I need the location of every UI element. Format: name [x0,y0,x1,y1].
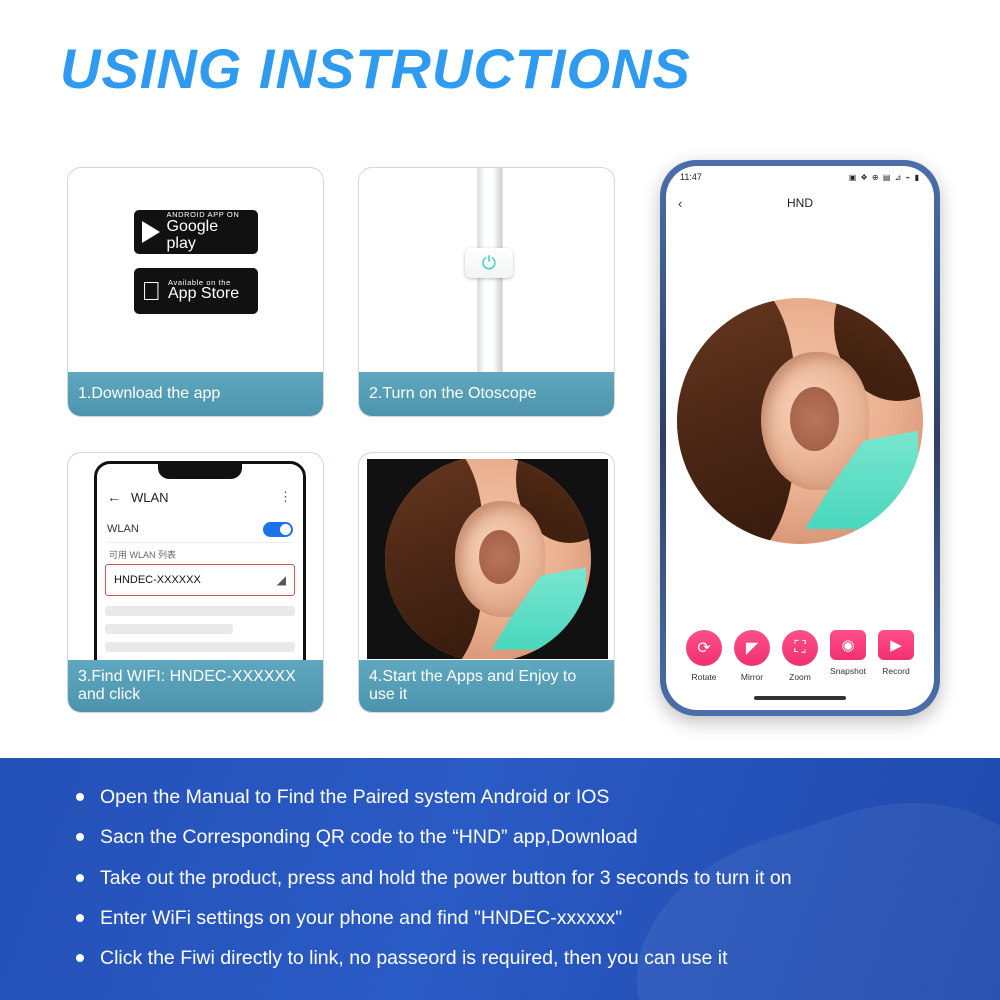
app-store-badge-label: App Store [168,286,239,303]
app-store-badge[interactable]:  Available on the App Store [134,268,258,314]
status-bar-icons: ▣ ❖ ⊕ ▤ ⊿ ⌁ ▮ [849,173,920,182]
control-mirror[interactable]: ◤ Mirror [728,630,776,682]
step-card-find-wifi: ← WLAN ⋮ WLAN 可用 WLAN 列表 HNDEC-XXXXXX ◢ … [67,452,324,713]
control-label-rotate: Rotate [691,672,716,682]
camera-icon: ◉ [830,630,866,660]
step-caption-2: 2.Turn on the Otoscope [359,372,614,416]
wlan-toggle-label: WLAN [107,523,139,535]
wlan-section-label: 可用 WLAN 列表 [109,548,176,561]
status-time: 11:47 [680,172,702,182]
wifi-icon: ◢ [277,573,286,587]
ear-canal-shape [479,530,520,584]
instructions-list: Open the Manual to Find the Paired syste… [0,758,1000,972]
phone-notch [158,464,242,479]
google-play-badge-label: Google play [167,219,250,253]
status-bar: 11:47 ▣ ❖ ⊕ ▤ ⊿ ⌁ ▮ [666,166,934,188]
list-item: Enter WiFi settings on your phone and fi… [72,905,1000,931]
live-ear-view [677,298,923,544]
step-caption-1: 1.Download the app [68,372,323,416]
phone-mockup-small: ← WLAN ⋮ WLAN 可用 WLAN 列表 HNDEC-XXXXXX ◢ [94,461,306,668]
google-play-icon [142,221,160,243]
instructions-band: Open the Manual to Find the Paired syste… [0,758,1000,1000]
step-card-power-on: ⏻ 2.Turn on the Otoscope [358,167,615,417]
app-title: HND [787,196,813,210]
overflow-menu-icon[interactable]: ⋮ [279,489,293,505]
power-icon: ⏻ [482,254,496,272]
list-item: Take out the product, press and hold the… [72,865,1000,891]
otoscope-device-photo: ⏻ [359,168,614,372]
step-caption-4: 4.Start the Apps and Enjoy to use it [359,660,614,712]
wlan-header: ← WLAN ⋮ [97,484,303,510]
store-badges: ANDROID APP ON Google play  Available o… [68,168,323,372]
rotate-icon: ⟳ [686,630,722,666]
google-play-badge[interactable]: ANDROID APP ON Google play [134,210,258,254]
app-title-bar: ‹ HND [666,190,934,216]
control-label-mirror: Mirror [741,672,763,682]
ear-photo-frame [367,459,608,659]
control-rotate[interactable]: ⟳ Rotate [680,630,728,682]
mirror-icon: ◤ [734,630,770,666]
phone-screen: 11:47 ▣ ❖ ⊕ ▤ ⊿ ⌁ ▮ ‹ HND ⟳ Rotate ◤ Mir… [666,166,934,710]
list-item: Open the Manual to Find the Paired syste… [72,784,1000,810]
ear-image [385,459,591,659]
record-icon: ▶ [878,630,914,660]
wifi-list-item-hndec[interactable]: HNDEC-XXXXXX ◢ [105,564,295,596]
control-label-zoom: Zoom [789,672,811,682]
wlan-toggle-row[interactable]: WLAN [107,516,293,543]
step-caption-3: 3.Find WIFI: HNDEC-XXXXXX and click [68,660,323,712]
phone-mockup-large: 11:47 ▣ ❖ ⊕ ▤ ⊿ ⌁ ▮ ‹ HND ⟳ Rotate ◤ Mir… [660,160,940,716]
power-button[interactable]: ⏻ [465,248,513,278]
zoom-icon: ⛶ [782,630,818,666]
control-zoom[interactable]: ⛶ Zoom [776,630,824,682]
control-label-snapshot: Snapshot [830,666,866,676]
list-item: Click the Fiwi directly to link, no pass… [72,945,1000,971]
control-record[interactable]: ▶ Record [872,630,920,682]
list-item: Sacn the Corresponding QR code to the “H… [72,824,1000,850]
control-snapshot[interactable]: ◉ Snapshot [824,630,872,682]
back-arrow-icon[interactable]: ← [107,489,121,505]
home-indicator [754,696,846,700]
step-card-start-app: 4.Start the Apps and Enjoy to use it [358,452,615,713]
wifi-list-item-blurred [105,624,233,634]
wifi-list-item-blurred [105,642,295,652]
back-arrow-icon[interactable]: ‹ [678,196,682,211]
apple-logo-icon:  [142,278,162,304]
control-label-record: Record [882,666,909,676]
ear-preview-photo [359,453,614,668]
page-title: USING INSTRUCTIONS [60,36,691,101]
wifi-list-item-blurred [105,606,295,616]
app-control-bar: ⟳ Rotate ◤ Mirror ⛶ Zoom ◉ Snapshot ▶ Re… [666,630,934,682]
ear-canal-shape [790,387,839,451]
wifi-ssid-label: HNDEC-XXXXXX [114,574,201,586]
wlan-toggle-switch[interactable] [263,522,293,537]
wlan-screenshot: ← WLAN ⋮ WLAN 可用 WLAN 列表 HNDEC-XXXXXX ◢ [68,453,323,668]
step-card-download: ANDROID APP ON Google play  Available o… [67,167,324,417]
wlan-screen-title: WLAN [131,490,169,505]
